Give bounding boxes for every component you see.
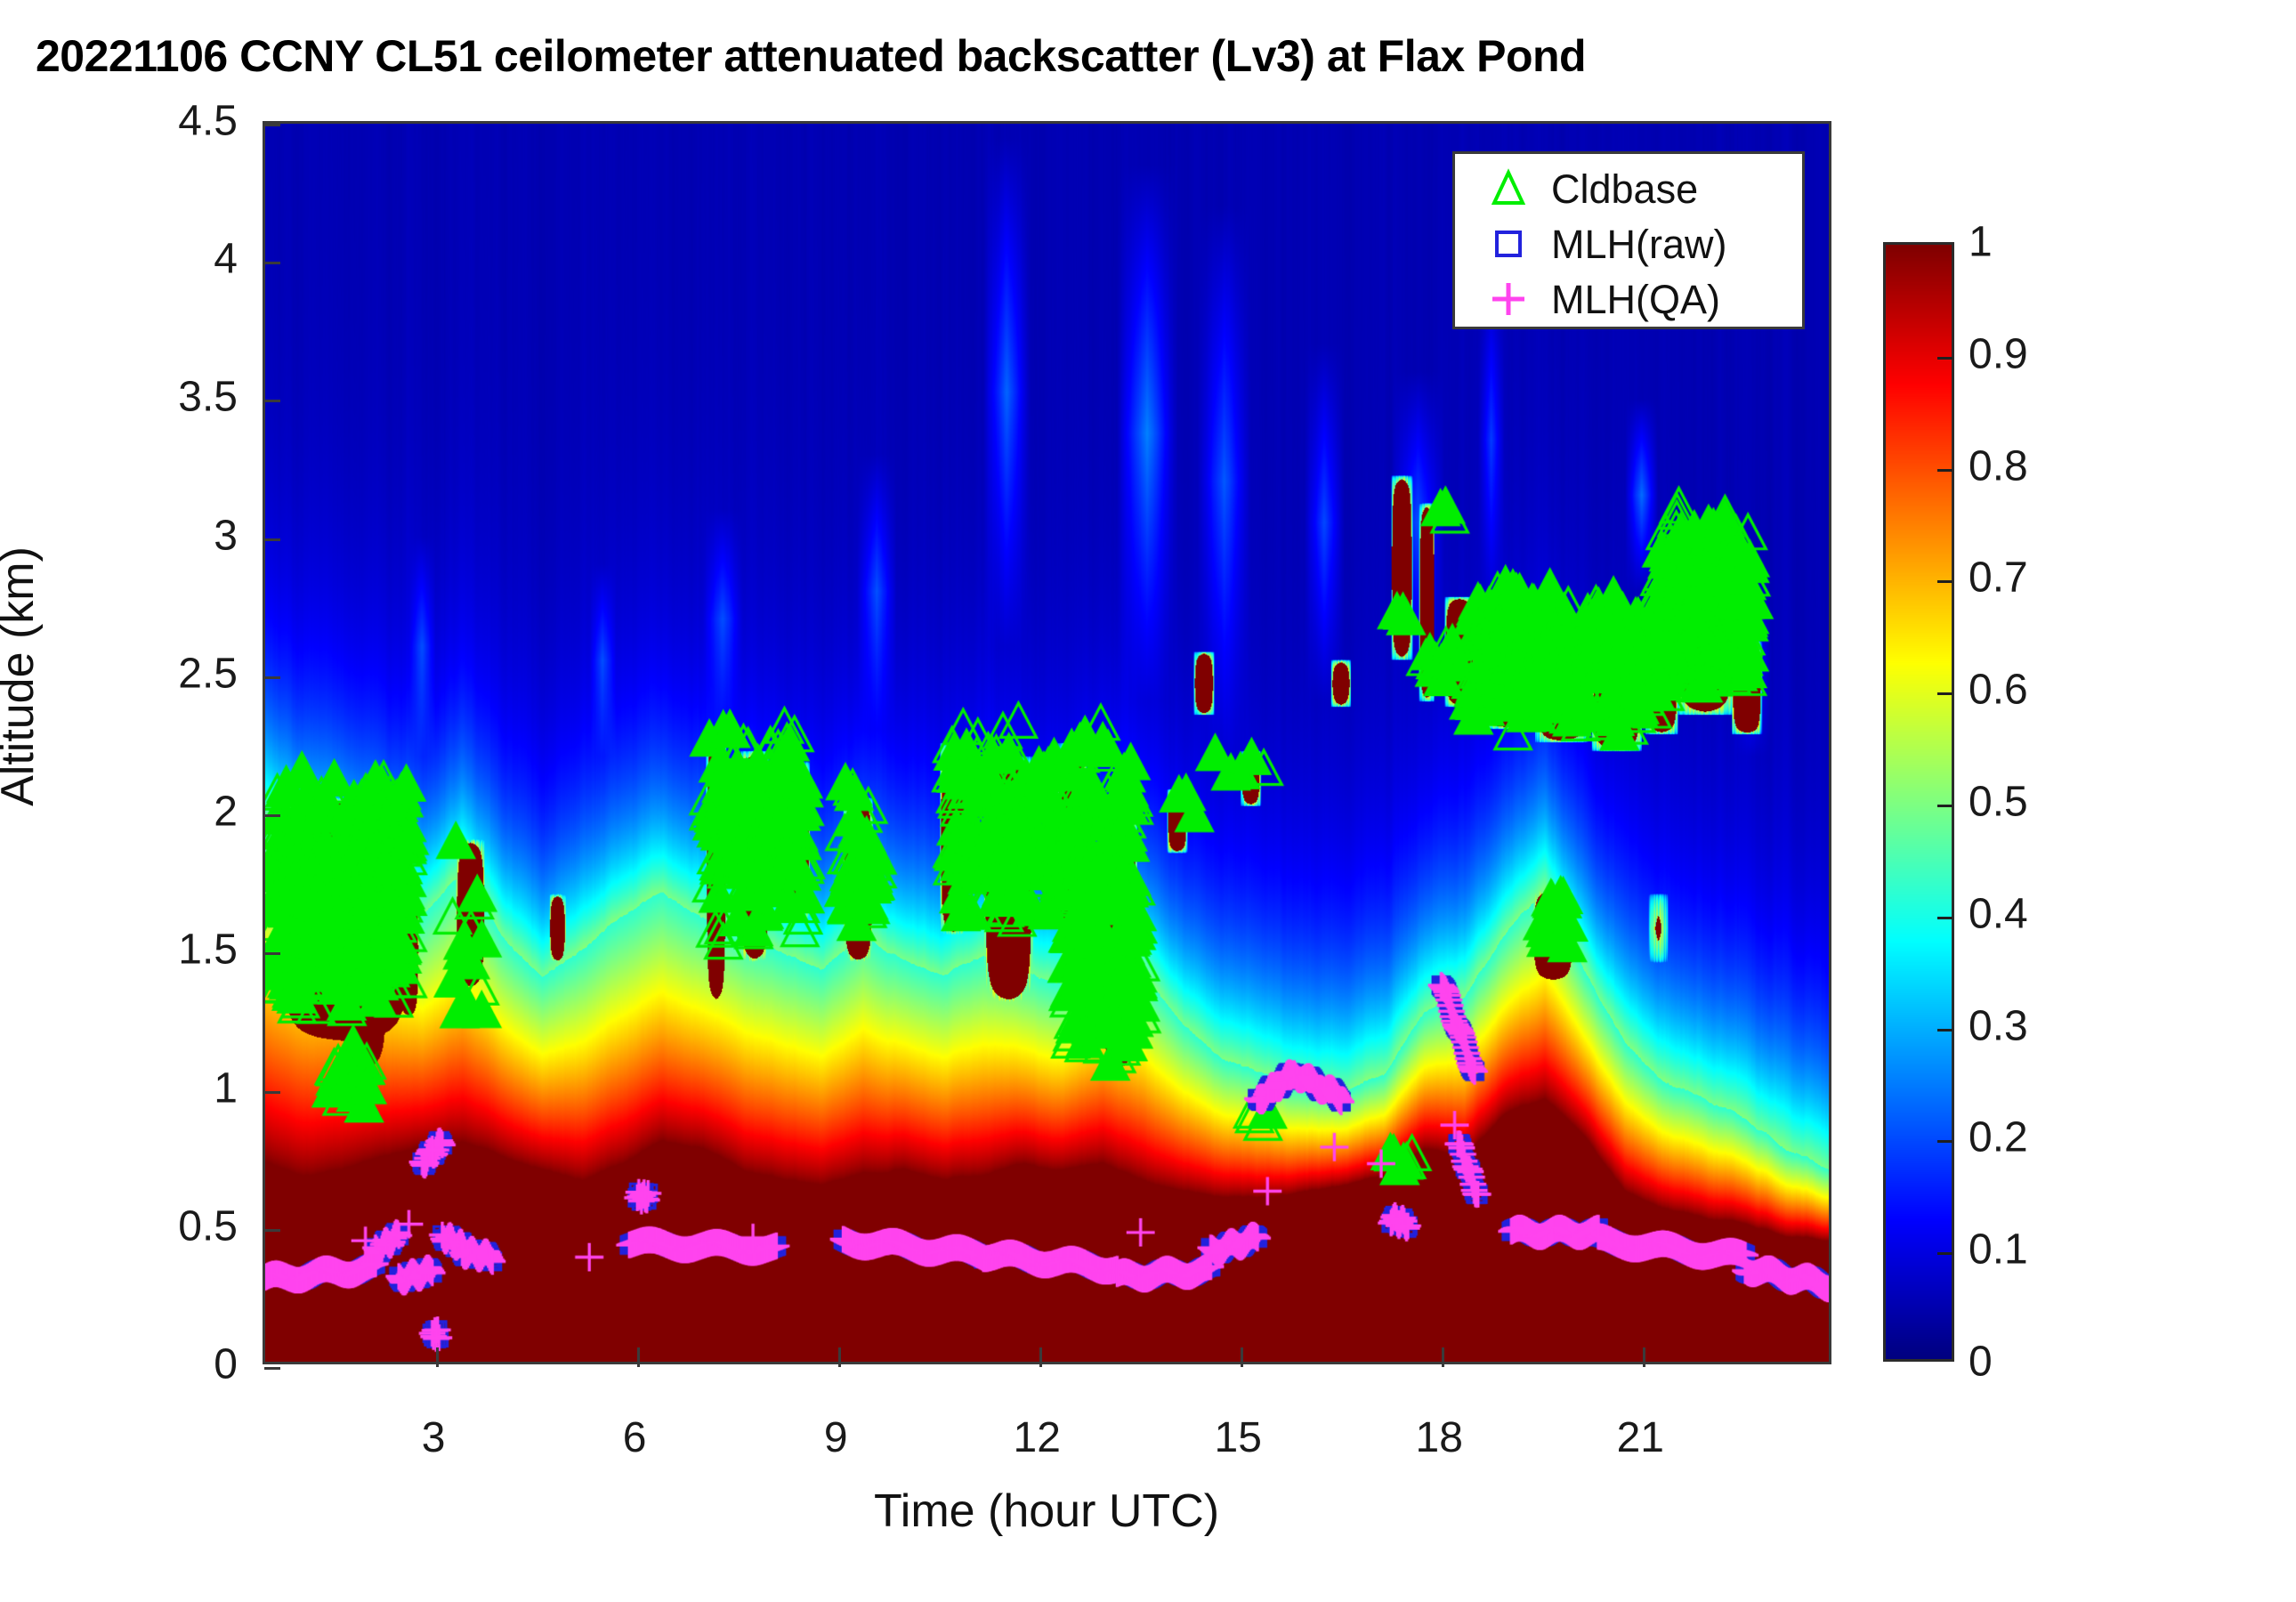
colorbar-tick	[1937, 1252, 1952, 1255]
colorbar-tick-label: 0.5	[1969, 778, 2028, 827]
colorbar-tick	[1937, 580, 1952, 583]
colorbar-tick-label: 0	[1969, 1338, 1993, 1387]
plus-icon	[1471, 274, 1546, 324]
x-axis-tick-label: 12	[1013, 1413, 1060, 1462]
colorbar-tick	[1937, 1029, 1952, 1032]
colorbar-tick	[1937, 692, 1952, 695]
x-axis-tick-label: 3	[422, 1413, 446, 1462]
triangle-icon	[1471, 164, 1546, 214]
legend-label-cldbase: Cldbase	[1551, 169, 1698, 209]
legend-item-cldbase[interactable]: Cldbase	[1455, 161, 1802, 216]
colorbar-tick-label: 0.8	[1969, 441, 2028, 490]
legend-box[interactable]: Cldbase MLH(raw) MLH(QA)	[1452, 151, 1805, 329]
legend-item-mlh-raw[interactable]: MLH(raw)	[1455, 216, 1802, 271]
colorbar-tick-label: 0.4	[1969, 889, 2028, 938]
x-axis-tick-label: 9	[824, 1413, 848, 1462]
x-axis-tick-label: 18	[1416, 1413, 1463, 1462]
colorbar[interactable]	[1883, 242, 1954, 1362]
colorbar-tick-label: 1	[1969, 218, 1993, 267]
x-axis-tick-label: 6	[623, 1413, 647, 1462]
colorbar-tick	[1937, 357, 1952, 360]
colorbar-tick-label: 0.7	[1969, 554, 2028, 603]
colorbar-tick-label: 0.1	[1969, 1226, 2028, 1274]
square-icon	[1471, 219, 1546, 269]
legend-item-mlh-qa[interactable]: MLH(QA)	[1455, 271, 1802, 327]
colorbar-tick	[1937, 469, 1952, 472]
x-axis-tick-label: 15	[1215, 1413, 1262, 1462]
colorbar-tick-label: 0.6	[1969, 666, 2028, 715]
legend-label-mlh-qa: MLH(QA)	[1551, 279, 1720, 320]
colorbar-tick-label: 0.2	[1969, 1113, 2028, 1162]
colorbar-tick	[1937, 1140, 1952, 1143]
legend-label-mlh-raw: MLH(raw)	[1551, 224, 1727, 264]
colorbar-tick	[1937, 805, 1952, 807]
figure-root: 20221106 CCNY CL51 ceilometer attenuated…	[0, 0, 2296, 1602]
colorbar-tick-label: 0.9	[1969, 329, 2028, 378]
x-axis-tick-label: 21	[1617, 1413, 1664, 1462]
colorbar-tick	[1937, 917, 1952, 919]
colorbar-gradient	[1886, 245, 1952, 1359]
x-axis-title: Time (hour UTC)	[874, 1485, 1219, 1538]
y-axis-title: Altitude (km)	[0, 546, 44, 806]
colorbar-tick-label: 0.3	[1969, 1001, 2028, 1050]
